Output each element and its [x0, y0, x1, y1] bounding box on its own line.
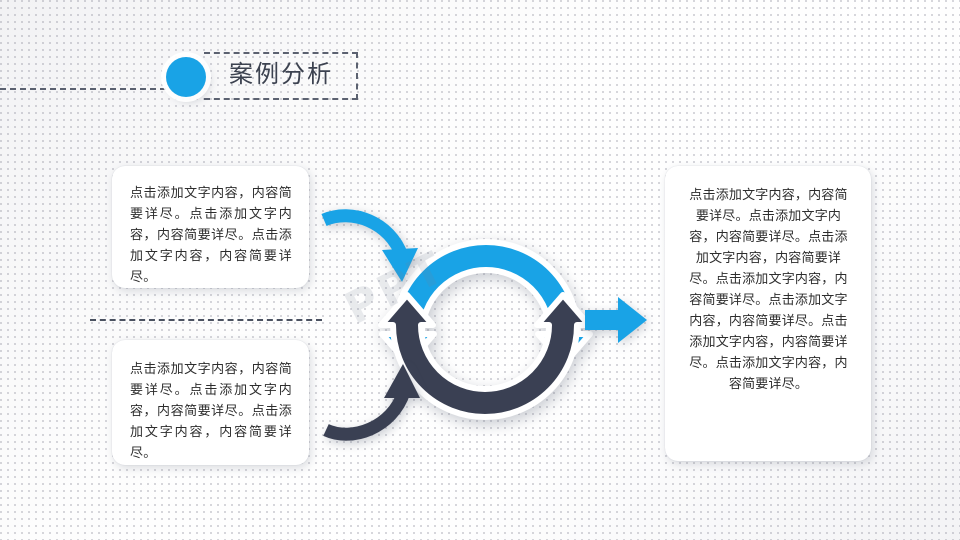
header-dashed-rule-left	[0, 88, 196, 90]
text-card-top-left-body: 点击添加文字内容，内容简要详尽。点击添加文字内容，内容简要详尽。点击添加文字内容…	[130, 183, 292, 288]
text-card-right-body: 点击添加文字内容，内容简要详尽。点击添加文字内容，内容简要详尽。点击添加文字内容…	[684, 185, 853, 395]
text-card-right[interactable]: 点击添加文字内容，内容简要详尽。点击添加文字内容，内容简要详尽。点击添加文字内容…	[665, 166, 871, 461]
straight-arrow-right-to-card	[585, 297, 647, 343]
left-column-divider	[90, 319, 322, 321]
text-card-bottom-left-body: 点击添加文字内容，内容简要详尽。点击添加文字内容，内容简要详尽。点击添加文字内容…	[130, 359, 292, 464]
text-card-top-left[interactable]: 点击添加文字内容，内容简要详尽。点击添加文字内容，内容简要详尽。点击添加文字内容…	[112, 166, 309, 288]
text-card-bottom-left[interactable]: 点击添加文字内容，内容简要详尽。点击添加文字内容，内容简要详尽。点击添加文字内容…	[112, 340, 309, 465]
page-title: 案例分析	[229, 58, 333, 90]
title-bullet-circle-icon	[166, 57, 206, 97]
curved-arrow-bottom-left-to-ring	[320, 358, 432, 444]
curved-arrow-top-left-to-ring	[318, 200, 430, 288]
slide-canvas: 案例分析 点击添加文字内容，内容简要详尽。点击添加文字内容，内容简要详尽。点击添…	[0, 0, 960, 540]
